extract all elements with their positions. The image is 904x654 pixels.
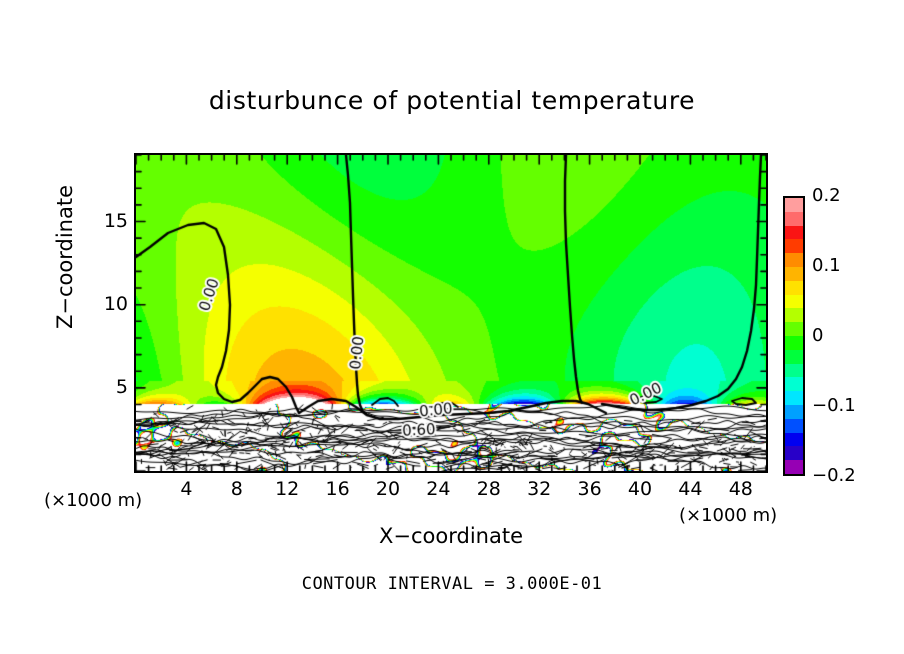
colorbar-band — [785, 336, 803, 350]
x-axis-unit-label: (×1000 m) — [679, 505, 777, 526]
x-tick-label: 4 — [166, 478, 206, 500]
x-tick-label: 32 — [519, 478, 559, 500]
page-title: disturbunce of potential temperature — [0, 86, 904, 115]
x-tick-label: 24 — [418, 478, 458, 500]
colorbar-band — [785, 295, 803, 309]
y-axis-unit-label: (×1000 m) — [44, 490, 142, 511]
y-tick-label: 15 — [94, 210, 128, 232]
colorbar-band — [785, 253, 803, 267]
contour-plot-canvas — [136, 155, 766, 471]
x-axis-tick-labels: 4812162024283236404448 — [134, 478, 768, 504]
plot-area — [134, 153, 768, 473]
x-tick-label: 36 — [570, 478, 610, 500]
x-tick-label: 20 — [368, 478, 408, 500]
colorbar-band — [785, 460, 803, 474]
y-axis-tick-labels: 51015 — [92, 153, 128, 473]
colorbar-band — [785, 377, 803, 391]
colorbar-band — [785, 364, 803, 378]
colorbar-band — [785, 212, 803, 226]
contour-interval-caption: CONTOUR INTERVAL = 3.000E-01 — [0, 574, 904, 594]
colorbar-band — [785, 391, 803, 405]
colorbar-band — [785, 267, 803, 281]
y-tick-label: 5 — [94, 376, 128, 398]
x-tick-label: 40 — [620, 478, 660, 500]
colorbar-tick-labels: 0.20.10−0.1−0.2 — [812, 196, 892, 476]
colorbar-tick-label: −0.2 — [812, 465, 856, 486]
colorbar-tick-label: 0.1 — [812, 255, 841, 276]
x-tick-label: 48 — [721, 478, 761, 500]
colorbar-band — [785, 446, 803, 460]
colorbar-band — [785, 419, 803, 433]
x-tick-label: 44 — [670, 478, 710, 500]
x-tick-label: 8 — [217, 478, 257, 500]
colorbar-band — [785, 226, 803, 240]
y-tick-label: 10 — [94, 293, 128, 315]
y-axis-label: Z−coordinate — [53, 147, 77, 367]
colorbar-band — [785, 198, 803, 212]
colorbar-band — [785, 350, 803, 364]
colorbar-tick-label: −0.1 — [812, 395, 856, 416]
x-axis-label: X−coordinate — [134, 524, 768, 548]
colorbar-band — [785, 433, 803, 447]
colorbar-tick-label: 0 — [812, 325, 823, 346]
x-tick-label: 16 — [318, 478, 358, 500]
colorbar — [783, 196, 805, 476]
colorbar-band — [785, 239, 803, 253]
x-tick-label: 12 — [267, 478, 307, 500]
colorbar-tick-label: 0.2 — [812, 185, 841, 206]
figure-root: disturbunce of potential temperature Z−c… — [0, 0, 904, 654]
colorbar-band — [785, 308, 803, 322]
colorbar-band — [785, 405, 803, 419]
x-tick-label: 28 — [469, 478, 509, 500]
colorbar-band — [785, 281, 803, 295]
colorbar-gradient — [783, 196, 805, 476]
colorbar-band — [785, 322, 803, 336]
